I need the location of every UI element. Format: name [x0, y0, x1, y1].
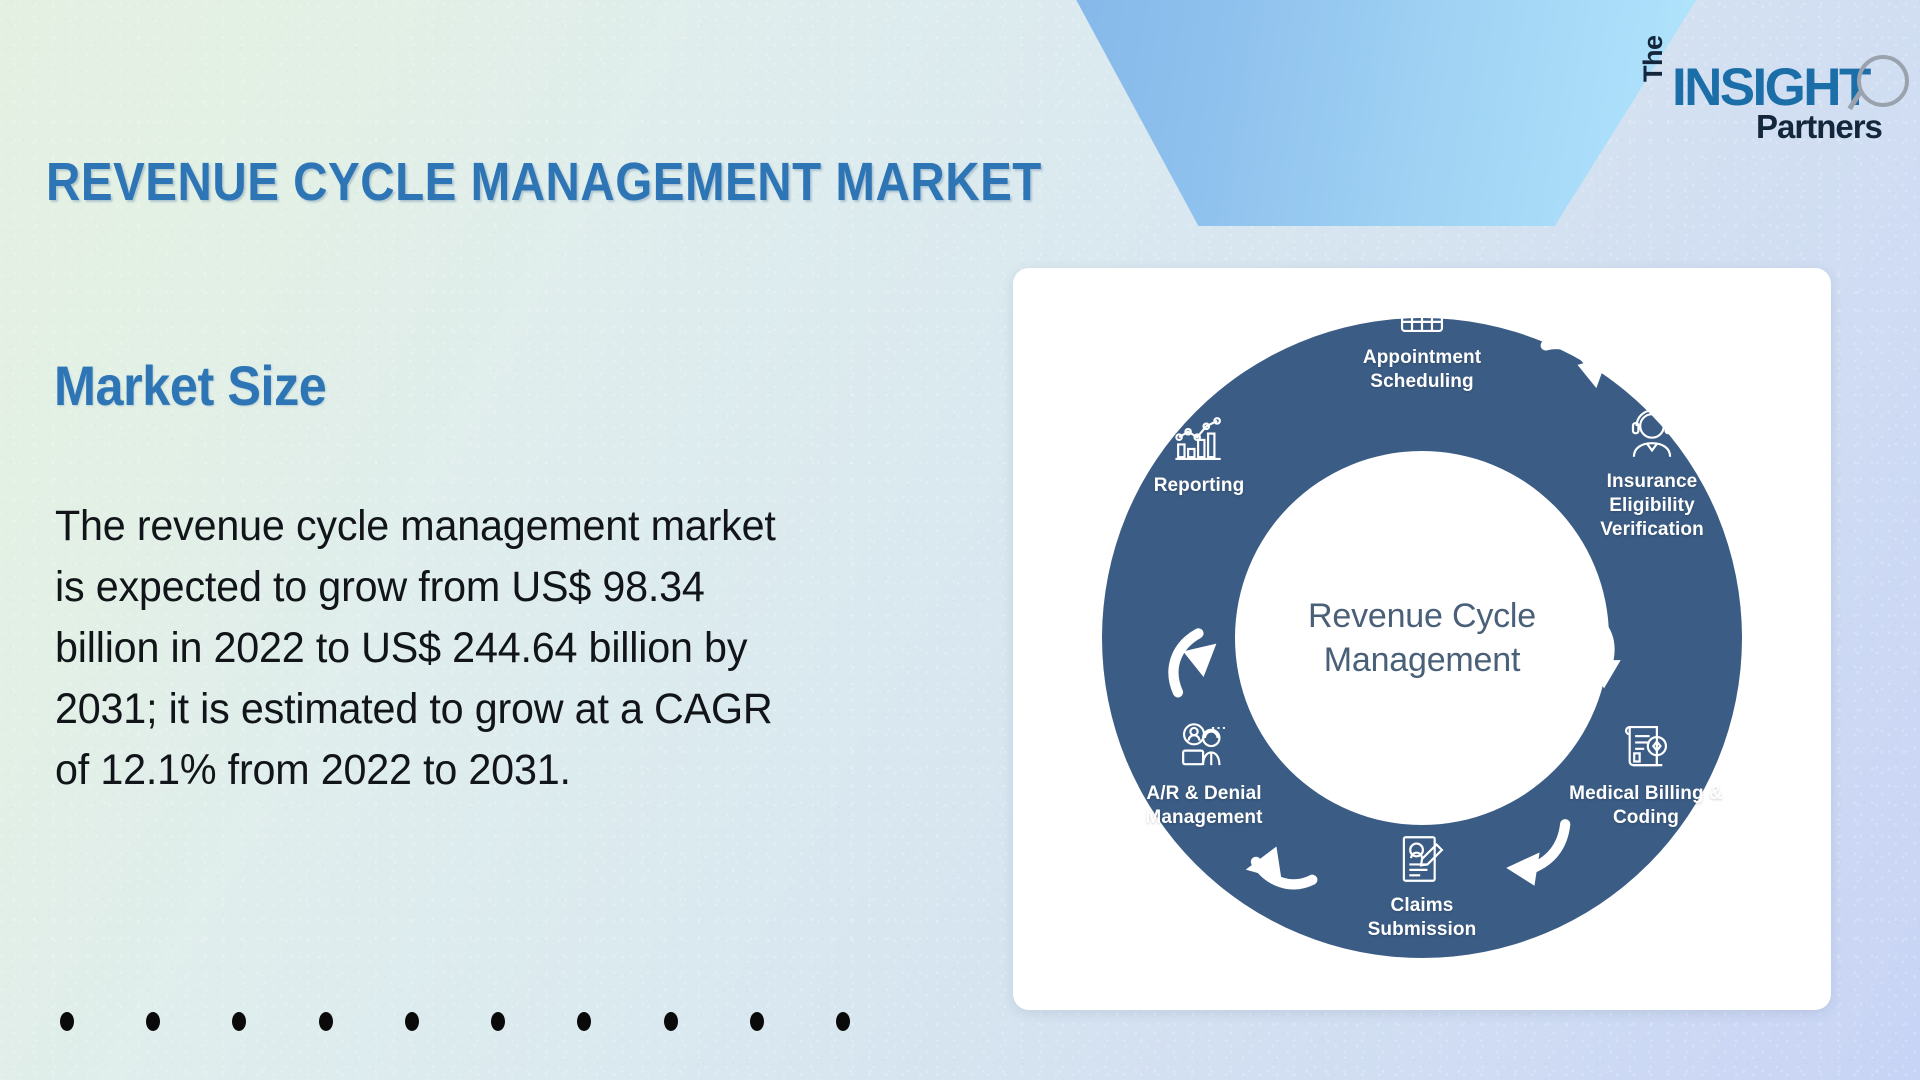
logo-the-text: The [1638, 35, 1669, 82]
dot [577, 1012, 591, 1031]
segment-label-line-2: Submission [1368, 919, 1477, 940]
decorative-dot-row [60, 1012, 850, 1031]
dot [405, 1012, 419, 1031]
bar-chart-icon [1170, 410, 1228, 468]
calendar-icon [1393, 282, 1451, 340]
magnifying-glass-icon [1857, 55, 1909, 107]
segment-label-line-2: Coding [1613, 807, 1679, 828]
segment-label-line-1: Reporting [1154, 475, 1245, 496]
dot [664, 1012, 678, 1031]
segment-ar-denial-management[interactable]: A/R & Denial Management [1104, 718, 1304, 830]
support-agent-icon [1623, 406, 1681, 464]
cycle-ring: Revenue Cycle Management [1102, 318, 1742, 958]
dot [836, 1012, 850, 1031]
dot [319, 1012, 333, 1031]
market-size-description: The revenue cycle management market is e… [55, 496, 785, 801]
dot [491, 1012, 505, 1031]
logo-partners-text: Partners [1756, 108, 1882, 146]
segment-label-line-1: Claims [1391, 895, 1454, 916]
clockwise-arrow-icon [1160, 618, 1242, 700]
segment-label-line-1: A/R & Denial [1146, 783, 1261, 804]
section-heading-market-size: Market Size [54, 353, 326, 418]
segment-appointment-scheduling[interactable]: Appointment Scheduling [1322, 282, 1522, 394]
center-label-line-1: Revenue Cycle [1257, 594, 1587, 638]
dot [60, 1012, 74, 1031]
segment-label-line-2: Eligibility [1609, 495, 1695, 516]
slide-canvas: The INSIGHT Partners REVENUE CYCLE MANAG… [0, 0, 1920, 1080]
dot [146, 1012, 160, 1031]
dot [750, 1012, 764, 1031]
diagram-center-label: Revenue Cycle Management [1257, 594, 1587, 682]
clockwise-arrow-icon [1496, 814, 1578, 896]
revenue-cycle-diagram-card: Revenue Cycle Management [1013, 268, 1831, 1010]
form-pencil-icon [1393, 830, 1451, 888]
team-support-icon [1175, 718, 1233, 776]
page-title: REVENUE CYCLE MANAGEMENT MARKET [46, 151, 1042, 213]
clockwise-arrow-icon [1238, 826, 1320, 908]
segment-insurance-eligibility-verification[interactable]: Insurance Eligibility Verification [1564, 406, 1740, 542]
segment-label-line-2: Management [1145, 807, 1262, 828]
document-search-icon [1617, 718, 1675, 776]
segment-label-line-1: Appointment [1363, 347, 1481, 368]
segment-label-line-3: Verification [1600, 519, 1704, 540]
segment-label-line-1: Insurance [1607, 471, 1698, 492]
clockwise-arrow-icon [1538, 330, 1620, 412]
decorative-hexagon-shape [1040, 0, 1700, 226]
clockwise-arrow-icon [1572, 614, 1654, 696]
center-label-line-2: Management [1257, 638, 1587, 682]
segment-claims-submission[interactable]: Claims Submission [1322, 830, 1522, 942]
insight-partners-logo[interactable]: The INSIGHT Partners [1636, 52, 1916, 162]
segment-label-line-1: Medical Billing & [1569, 783, 1723, 804]
segment-label-line-2: Scheduling [1370, 371, 1473, 392]
segment-reporting[interactable]: Reporting [1106, 410, 1292, 498]
dot [232, 1012, 246, 1031]
